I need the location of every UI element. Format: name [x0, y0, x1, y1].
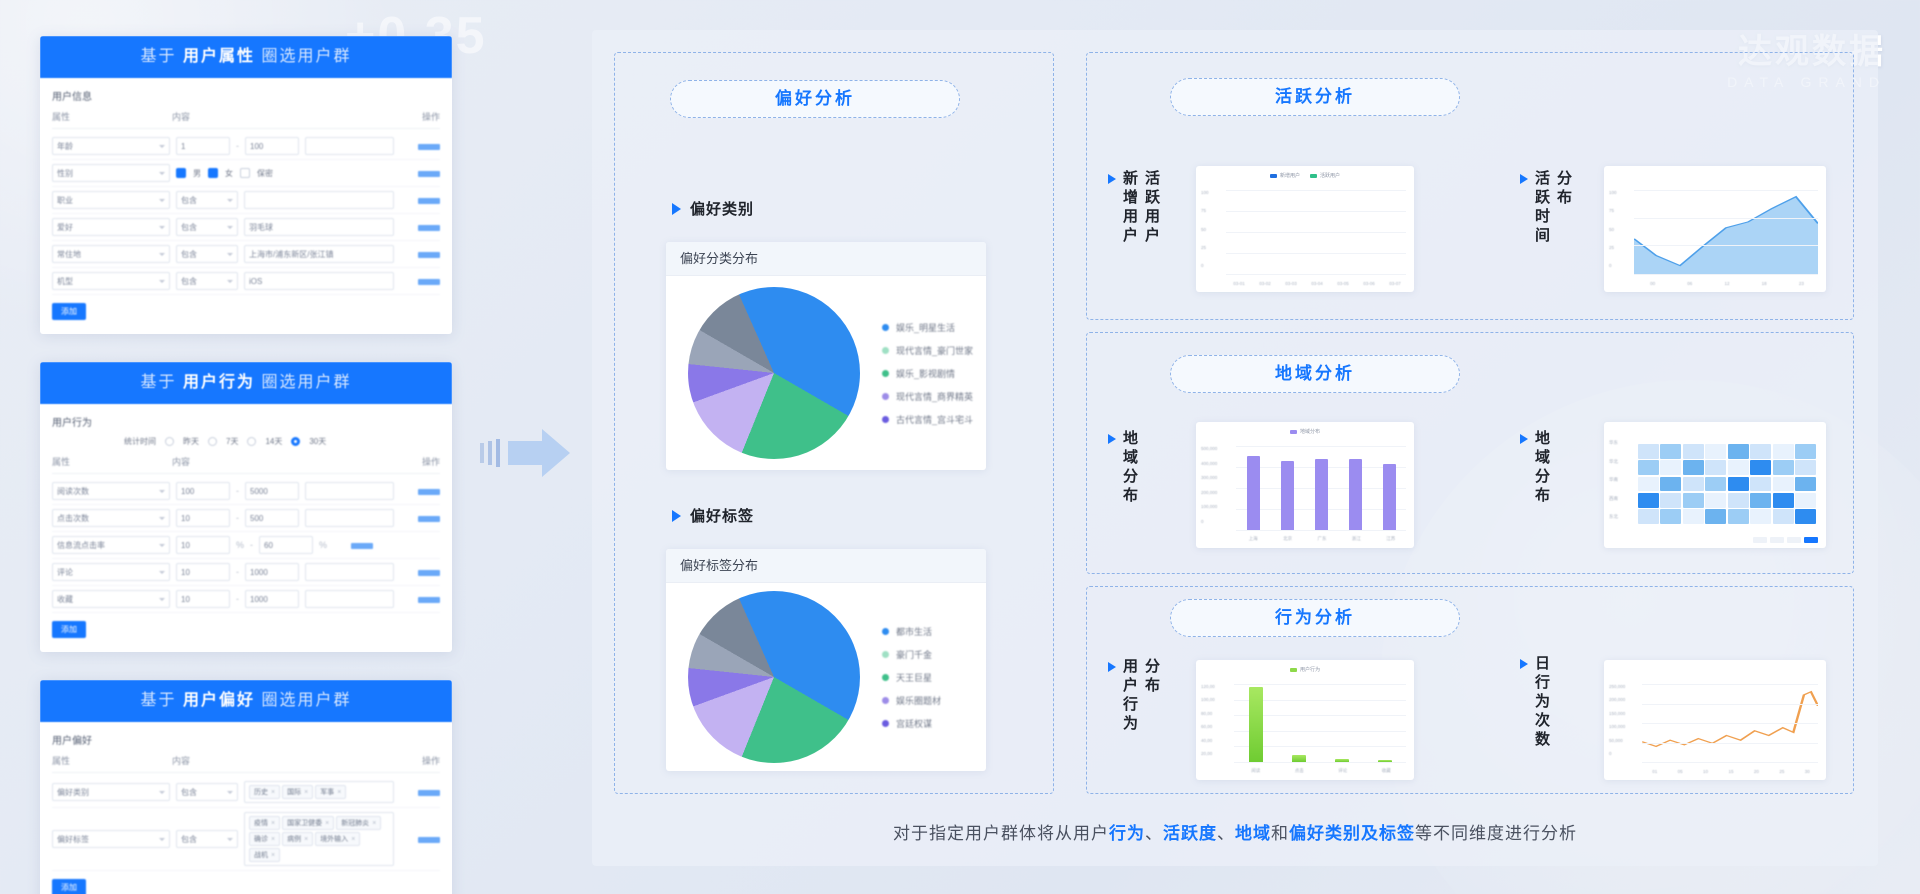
- row-action[interactable]: [400, 272, 440, 290]
- legend-item: 豪门千金: [882, 648, 941, 661]
- card3-col-content: 内容: [172, 754, 400, 767]
- tag-chip[interactable]: 确诊×: [249, 832, 280, 846]
- table-row[interactable]: 职业 包含: [52, 187, 440, 214]
- card3-col-attr: 属性: [52, 754, 172, 767]
- attr-select[interactable]: 爱好: [52, 218, 170, 236]
- card-user-attribute: 基于 用户属性 圈选用户群 用户信息 属性 内容 操作 年龄 1 - 100 性…: [40, 36, 452, 334]
- range-max-input[interactable]: 60: [259, 536, 313, 554]
- range-max-input[interactable]: 500: [245, 509, 299, 527]
- table-row[interactable]: 点击次数 10 - 500: [52, 505, 440, 532]
- checkbox-male[interactable]: [176, 168, 186, 178]
- chart-title-preference-category: 偏好分类分布: [666, 242, 986, 276]
- panel-caption: 对于指定用户群体将从用户行为、活跃度、地域和偏好类别及标签等不同维度进行分析: [592, 819, 1878, 844]
- heatmap-btn-1[interactable]: [1753, 537, 1767, 543]
- row-action[interactable]: [333, 536, 373, 554]
- triangle-icon: [1520, 434, 1528, 444]
- chart-behavior-bar: 用户行为 120,00100,0080,0060,0040,0020,00 阅读…: [1196, 660, 1414, 780]
- table-row[interactable]: 爱好 包含 羽毛球: [52, 214, 440, 241]
- tag-chip[interactable]: 战机×: [249, 848, 280, 862]
- caption-hl-behavior: 行为: [1109, 824, 1145, 843]
- chart-active-time: 1007550250 00 06 12 18 23: [1604, 166, 1826, 292]
- pill-preference-analysis[interactable]: 偏好分析: [670, 80, 960, 118]
- radio-14d[interactable]: [247, 437, 256, 446]
- range-dash: -: [250, 540, 253, 550]
- plot-region: [1236, 446, 1406, 530]
- table-row[interactable]: 阅读次数 100 - 5000: [52, 478, 440, 505]
- axis-y-active-time: 1007550250: [1609, 190, 1617, 268]
- legend-item: 宫廷权谋: [882, 717, 941, 730]
- subhead-preference-tag-label: 偏好标签: [690, 505, 754, 526]
- range-dash: -: [236, 141, 239, 151]
- tag-chip[interactable]: 历史×: [249, 785, 280, 799]
- attr-select[interactable]: 偏好类别: [52, 783, 170, 801]
- label-active-user: 活跃用户: [1144, 170, 1159, 246]
- plot-active-time: [1634, 190, 1818, 274]
- range-max-input[interactable]: 5000: [245, 482, 299, 500]
- card1-col-attr: 属性: [52, 110, 172, 123]
- label-user-behavior: 用户行为: [1122, 658, 1137, 734]
- operator-select[interactable]: 包含: [176, 830, 238, 848]
- card1-col-action: 操作: [400, 110, 440, 123]
- tag-list[interactable]: 疫情× 国家卫健委× 新冠肺炎× 确诊× 病例× 境外输入× 战机×: [244, 812, 394, 866]
- attr-select[interactable]: 性别: [52, 164, 170, 182]
- label-active-time: 活跃时间: [1534, 170, 1549, 246]
- row-action[interactable]: [400, 137, 440, 155]
- add-row-button[interactable]: 添加: [52, 621, 86, 638]
- operator-select[interactable]: 包含: [176, 245, 238, 263]
- axis-y-region: 500,000400,000300,000200,000100,0000: [1201, 446, 1217, 524]
- radio-30d[interactable]: [291, 437, 300, 446]
- spacer-field: [305, 590, 394, 608]
- operator-select[interactable]: 包含: [176, 783, 238, 801]
- card1-table-header: 属性 内容 操作: [52, 110, 440, 129]
- radio-7d-label: 7天: [226, 436, 238, 447]
- axis-y-daily: 250,000200,000150,000100,00050,0000: [1609, 684, 1625, 756]
- row-action[interactable]: [400, 563, 440, 581]
- card1-col-content: 内容: [172, 110, 400, 123]
- legend-item: 娱乐_明星生活: [882, 321, 973, 334]
- pill-region-analysis[interactable]: 地域分析: [1170, 355, 1460, 393]
- radio-yesterday-label: 昨天: [183, 436, 199, 447]
- range-dash: -: [236, 594, 239, 604]
- checkbox-female-label: 女: [225, 168, 233, 179]
- label-region-distribution-right: 地域分布: [1520, 430, 1594, 506]
- tag-chip[interactable]: 军事×: [315, 785, 346, 799]
- chart-new-active-users: 新增用户 活跃用户 1007550250 03-01 03-02 03-03: [1196, 166, 1414, 292]
- table-row[interactable]: 评论 10 - 1000: [52, 559, 440, 586]
- label-region-dist-2: 地域分布: [1534, 430, 1549, 506]
- checkbox-female[interactable]: [208, 168, 218, 178]
- legend-item: 古代言情_宫斗宅斗: [882, 413, 973, 426]
- range-max-input[interactable]: 100: [245, 137, 299, 155]
- range-min-input[interactable]: 10: [176, 563, 230, 581]
- card2-col-attr: 属性: [52, 455, 172, 468]
- range-max-input[interactable]: 1000: [245, 563, 299, 581]
- checkbox-secret-label: 保密: [257, 168, 273, 179]
- area-path-active-time: [1634, 190, 1818, 274]
- label-new-user: 新增用户: [1122, 170, 1137, 246]
- card2-section-label: 用户行为: [52, 414, 440, 429]
- attr-select[interactable]: 阅读次数: [52, 482, 170, 500]
- operator-select[interactable]: 包含: [176, 191, 238, 209]
- card1-title-key: 用户属性: [183, 48, 255, 65]
- table-row[interactable]: 常住地 包含 上海市/浦东新区/张江镇: [52, 241, 440, 268]
- pill-active-analysis[interactable]: 活跃分析: [1170, 78, 1460, 116]
- radio-7d[interactable]: [208, 437, 217, 446]
- attr-select[interactable]: 常住地: [52, 245, 170, 263]
- table-row[interactable]: 年龄 1 - 100: [52, 133, 440, 160]
- attr-select[interactable]: 偏好标签: [52, 830, 170, 848]
- range-dash: -: [236, 486, 239, 496]
- card3-title-prefix: 基于: [141, 692, 177, 709]
- left-card-column: 基于 用户属性 圈选用户群 用户信息 属性 内容 操作 年龄 1 - 100 性…: [40, 36, 452, 894]
- flow-arrow: [480, 425, 572, 481]
- tag-chip[interactable]: 疫情×: [249, 816, 280, 830]
- card2-table-header: 属性 内容 操作: [52, 455, 440, 474]
- heatmap-buttons[interactable]: [1753, 537, 1818, 543]
- card2-col-content: 内容: [172, 455, 400, 468]
- range-min-input[interactable]: 10: [176, 509, 230, 527]
- add-row-button[interactable]: 添加: [52, 879, 86, 894]
- heatmap-grid: [1638, 444, 1816, 524]
- spacer-field: [305, 563, 394, 581]
- triangle-icon: [1108, 174, 1116, 184]
- unit-percent-max: %: [319, 540, 327, 550]
- legend-preference-tag: 都市生活 豪门千金 天王巨星 娱乐圈题材 宫廷权谋: [882, 615, 941, 740]
- value-input[interactable]: 羽毛球: [244, 218, 394, 236]
- operator-select[interactable]: 包含: [176, 218, 238, 236]
- label-region-dist-1: 地域分布: [1122, 430, 1137, 506]
- card-user-behavior: 基于 用户行为 圈选用户群 用户行为 统计时间 昨天 7天 14天 30天 属性…: [40, 362, 452, 652]
- card3-col-action: 操作: [400, 754, 440, 767]
- card-user-attribute-header: 基于 用户属性 圈选用户群: [40, 36, 452, 78]
- pie-chart-preference-category: [688, 287, 860, 459]
- card2-col-action: 操作: [400, 455, 440, 468]
- chart-region-heatmap: 华东华北华南西南东北: [1604, 422, 1826, 548]
- axis-x-behavior: 阅读 点击 评论 收藏: [1234, 768, 1408, 774]
- triangle-icon: [1108, 662, 1116, 672]
- axis-y-behavior: 120,00100,0080,0060,0040,0020,00: [1201, 684, 1215, 756]
- tag-chip[interactable]: 国际×: [282, 785, 313, 799]
- mini-legend-region: 地域分布: [1196, 422, 1414, 435]
- legend-behavior: 用户行为: [1290, 666, 1320, 673]
- table-row[interactable]: 偏好类别 包含 历史× 国际× 军事×: [52, 777, 440, 808]
- range-min-input[interactable]: 100: [176, 482, 230, 500]
- spacer-field: [305, 482, 394, 500]
- caption-part-2: 、: [1145, 824, 1163, 843]
- caption-part-3: 、: [1217, 824, 1235, 843]
- chart-daily-line: 250,000200,000150,000100,00050,0000 01 0…: [1604, 660, 1826, 780]
- axis-y-new-active: 1007550250: [1201, 190, 1209, 268]
- card2-title-key: 用户行为: [183, 374, 255, 391]
- range-dash: -: [236, 513, 239, 523]
- card-user-preference: 基于 用户偏好 圈选用户群 用户偏好 属性 内容 操作 偏好类别 包含 历史× …: [40, 680, 452, 894]
- axis-x-region: 上海 北京 广东 浙江 江苏: [1236, 536, 1408, 542]
- caption-part-4: 和: [1271, 824, 1289, 843]
- analysis-panel: 偏好分析 偏好类别 偏好分类分布 娱乐_明星生活 现代言情_豪门世家 娱乐_影视…: [592, 30, 1878, 866]
- subhead-preference-category-label: 偏好类别: [690, 198, 754, 219]
- plot-daily: [1642, 684, 1818, 762]
- card1-section-label: 用户信息: [52, 88, 440, 103]
- row-action[interactable]: [400, 509, 440, 527]
- operator-select[interactable]: 包含: [176, 272, 238, 290]
- chart-card-preference-tag: 偏好标签分布 都市生活 豪门千金 天王巨星 娱乐圈题材 宫廷权谋: [666, 549, 986, 771]
- card2-title-prefix: 基于: [141, 374, 177, 391]
- legend-active-user: 活跃用户: [1310, 172, 1340, 179]
- legend-region: 地域分布: [1290, 428, 1320, 435]
- time-range-radio-group[interactable]: 统计时间 昨天 7天 14天 30天: [124, 436, 440, 447]
- chart-region-bar: 地域分布 500,000400,000300,000200,000100,000…: [1196, 422, 1414, 548]
- label-region-distribution-left: 地域分布: [1108, 430, 1182, 506]
- legend-item: 现代言情_豪门世家: [882, 344, 973, 357]
- legend-item: 现代言情_商界精英: [882, 390, 973, 403]
- time-range-label: 统计时间: [124, 436, 156, 447]
- subhead-preference-category: 偏好类别: [672, 198, 754, 219]
- triangle-icon: [1108, 434, 1116, 444]
- row-action[interactable]: [400, 783, 440, 801]
- card3-section-label: 用户偏好: [52, 732, 440, 747]
- heatmap-btn-2[interactable]: [1770, 537, 1784, 543]
- subhead-preference-tag: 偏好标签: [672, 505, 754, 526]
- legend-item: 都市生活: [882, 625, 941, 638]
- table-row[interactable]: 性别 男 女 保密: [52, 160, 440, 187]
- table-row[interactable]: 收藏 10 - 1000: [52, 586, 440, 613]
- tag-chip[interactable]: 病例×: [282, 832, 313, 846]
- triangle-icon: [672, 510, 681, 522]
- axis-x-daily: 01 05 10 15 20 25 30: [1642, 769, 1820, 774]
- label-daily-count: 日行为次数: [1534, 655, 1549, 750]
- axis-y-heatmap: 华东华北华南西南东北: [1609, 440, 1618, 520]
- attr-select[interactable]: 收藏: [52, 590, 170, 608]
- attr-select[interactable]: 职业: [52, 191, 170, 209]
- range-dash: -: [236, 567, 239, 577]
- card1-title-suffix: 圈选用户群: [261, 48, 351, 65]
- heatmap-btn-3[interactable]: [1787, 537, 1801, 543]
- value-input[interactable]: [244, 191, 394, 209]
- legend-item: 娱乐圈题材: [882, 694, 941, 707]
- chart-card-preference-category: 偏好分类分布 娱乐_明星生活 现代言情_豪门世家 娱乐_影视剧情 现代言情_商界…: [666, 242, 986, 470]
- axis-x-new-active: 03-01 03-02 03-03 03-04 03-05 03-06 03-0…: [1226, 281, 1408, 286]
- card1-title-prefix: 基于: [141, 48, 177, 65]
- attr-select[interactable]: 机型: [52, 272, 170, 290]
- row-action[interactable]: [400, 191, 440, 209]
- triangle-icon: [1520, 659, 1528, 669]
- caption-hl-preference: 偏好类别及标签: [1289, 824, 1415, 843]
- row-action[interactable]: [400, 830, 440, 848]
- card2-title-suffix: 圈选用户群: [261, 374, 351, 391]
- row-action[interactable]: [400, 164, 440, 182]
- attr-select[interactable]: 点击次数: [52, 509, 170, 527]
- range-min-input[interactable]: 1: [176, 137, 230, 155]
- value-input[interactable]: iOS: [244, 272, 394, 290]
- table-row[interactable]: 信息流点击率 10 % - 60 %: [52, 532, 440, 559]
- unit-percent-min: %: [236, 540, 244, 550]
- range-min-input[interactable]: 10: [176, 536, 230, 554]
- card-user-behavior-header: 基于 用户行为 圈选用户群: [40, 362, 452, 404]
- table-row[interactable]: 机型 包含 iOS: [52, 268, 440, 295]
- heatmap-btn-4[interactable]: [1804, 537, 1818, 543]
- caption-hl-region: 地域: [1235, 824, 1271, 843]
- plot-new-active: [1226, 190, 1406, 274]
- range-max-input[interactable]: 1000: [245, 590, 299, 608]
- mini-legend-behavior: 用户行为: [1196, 660, 1414, 673]
- value-input[interactable]: 上海市/浦东新区/张江镇: [244, 245, 394, 263]
- spacer-field: [305, 137, 394, 155]
- caption-part-5: 等不同维度进行分析: [1415, 824, 1577, 843]
- row-action[interactable]: [400, 218, 440, 236]
- range-min-input[interactable]: 10: [176, 590, 230, 608]
- attr-select[interactable]: 年龄: [52, 137, 170, 155]
- pie-chart-preference-tag: [688, 591, 860, 763]
- radio-yesterday[interactable]: [165, 437, 174, 446]
- checkbox-secret[interactable]: [240, 168, 250, 178]
- triangle-icon: [1520, 174, 1528, 184]
- row-action[interactable]: [400, 590, 440, 608]
- tag-chip[interactable]: 新冠肺炎×: [336, 816, 381, 830]
- checkbox-male-label: 男: [193, 168, 201, 179]
- card3-table-header: 属性 内容 操作: [52, 754, 440, 773]
- legend-item: 天王巨星: [882, 671, 941, 684]
- spacer-field: [305, 509, 394, 527]
- table-row[interactable]: 偏好标签 包含 疫情× 国家卫健委× 新冠肺炎× 确诊× 病例× 境外输入× 战…: [52, 808, 440, 871]
- mini-legend-new-active: 新增用户 活跃用户: [1196, 166, 1414, 179]
- tag-list[interactable]: 历史× 国际× 军事×: [244, 781, 394, 803]
- legend-item: 娱乐_影视剧情: [882, 367, 973, 380]
- caption-hl-activity: 活跃度: [1163, 824, 1217, 843]
- label-daily-behavior-count: 日行为次数: [1520, 655, 1609, 750]
- radio-14d-label: 14天: [265, 436, 282, 447]
- legend-new-user: 新增用户: [1270, 172, 1300, 179]
- tag-chip[interactable]: 境外输入×: [315, 832, 360, 846]
- row-action[interactable]: [400, 482, 440, 500]
- tag-chip[interactable]: 国家卫健委×: [282, 816, 334, 830]
- gender-checkbox-group[interactable]: 男 女 保密: [176, 168, 394, 179]
- card3-title-key: 用户偏好: [183, 692, 255, 709]
- legend-preference-category: 娱乐_明星生活 现代言情_豪门世家 娱乐_影视剧情 现代言情_商界精英 古代言情…: [882, 311, 973, 436]
- add-row-button[interactable]: 添加: [52, 303, 86, 320]
- card-user-preference-header: 基于 用户偏好 圈选用户群: [40, 680, 452, 722]
- row-action[interactable]: [400, 245, 440, 263]
- caption-part-1: 对于指定用户群体将从用户: [893, 824, 1109, 843]
- attr-select[interactable]: 信息流点击率: [52, 536, 170, 554]
- triangle-icon: [672, 203, 681, 215]
- plot-behavior: [1234, 684, 1406, 762]
- label-distribution: 分布: [1556, 170, 1571, 246]
- radio-30d-label: 30天: [309, 436, 326, 447]
- attr-select[interactable]: 评论: [52, 563, 170, 581]
- axis-x-active-time: 00 06 12 18 23: [1634, 281, 1820, 286]
- label-behavior-dist: 分布: [1144, 658, 1159, 734]
- card3-title-suffix: 圈选用户群: [261, 692, 351, 709]
- pill-behavior-analysis[interactable]: 行为分析: [1170, 599, 1460, 637]
- chart-title-preference-tag: 偏好标签分布: [666, 549, 986, 583]
